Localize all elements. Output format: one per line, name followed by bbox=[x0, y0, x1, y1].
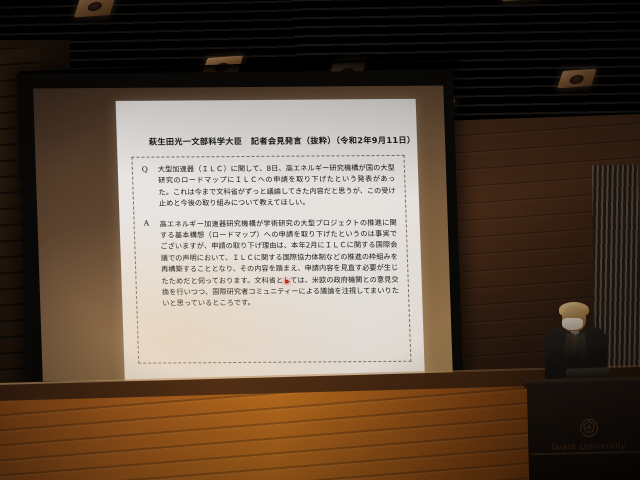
answer-text: 高エネルギー加速器研究機構が学術研究の大型プロジェクトの推進に関する基本構想（ロ… bbox=[159, 217, 399, 310]
screen-surface: 萩生田光一文部科学大臣 記者会見発言（抜粋）（令和2年9月11日） Q 大型加速… bbox=[33, 86, 453, 382]
red-laser-dot-icon bbox=[285, 280, 289, 284]
auditorium-photo: 萩生田光一文部科学大臣 記者会見発言（抜粋）（令和2年9月11日） Q 大型加速… bbox=[0, 0, 640, 480]
question-text: 大型加速器（ＩＬＣ）に関して、8日、高エネルギー研究機構が国の大型研究のロードマ… bbox=[158, 162, 397, 209]
slide-paragraph-question: Q 大型加速器（ＩＬＣ）に関して、8日、高エネルギー研究機構が国の大型研究のロー… bbox=[142, 162, 397, 209]
speaker-necktie bbox=[572, 335, 578, 357]
slide-paragraph-answer: A 高エネルギー加速器研究機構が学術研究の大型プロジェクトの推進に関する基本構想… bbox=[143, 217, 399, 310]
university-emblem-icon bbox=[579, 418, 599, 438]
presentation-slide: 萩生田光一文部科学大臣 記者会見発言（抜粋）（令和2年9月11日） Q 大型加速… bbox=[116, 99, 425, 382]
projection-screen: 萩生田光一文部科学大臣 記者会見発言（抜粋）（令和2年9月11日） Q 大型加速… bbox=[17, 71, 464, 396]
face-mask-icon bbox=[562, 318, 583, 330]
slide-title: 萩生田光一文部科学大臣 記者会見発言（抜粋）（令和2年9月11日） bbox=[149, 135, 407, 148]
question-marker: Q bbox=[142, 164, 160, 210]
slide-text-box: Q 大型加速器（ＩＬＣ）に関して、8日、高エネルギー研究機構が国の大型研究のロー… bbox=[131, 155, 411, 364]
